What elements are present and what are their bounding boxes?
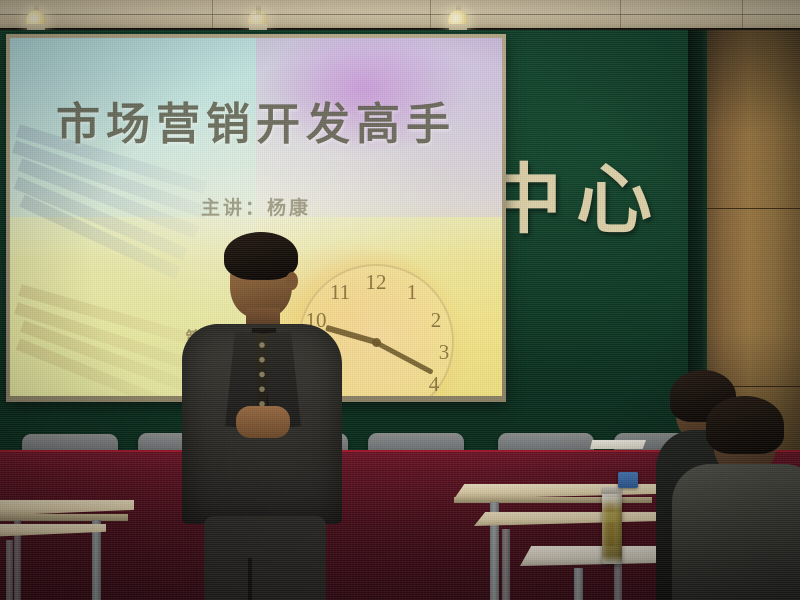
- presenter-hair: [224, 232, 298, 280]
- presenter-trouser-seam: [248, 558, 252, 600]
- audience-hair: [706, 396, 784, 454]
- table-front-left-lower: [0, 524, 110, 600]
- presenter-clasped-hands: [236, 406, 290, 438]
- slide-title: 市场营销开发高手: [10, 88, 502, 152]
- glass-tea-tumbler: [602, 492, 622, 564]
- audience-member-front: [696, 394, 800, 600]
- ceiling: [0, 0, 800, 30]
- blue-container: [618, 472, 638, 488]
- clock-number-5: 5: [398, 394, 422, 396]
- presenter: [178, 228, 346, 600]
- presenter-ear: [286, 272, 298, 290]
- presentation-room-photo: 中心 12 1 2 3 4 5: [0, 0, 800, 600]
- audience-body: [672, 464, 800, 600]
- clock-number-12: 12: [364, 270, 388, 295]
- clock-number-1: 1: [400, 280, 424, 305]
- slide-subtitle: 主讲：杨康: [10, 193, 502, 220]
- wall-sign-text: 中心: [486, 162, 666, 238]
- presenter-trousers: [204, 516, 326, 600]
- paper-sheet: [590, 440, 646, 449]
- clock-number-4: 4: [422, 372, 446, 396]
